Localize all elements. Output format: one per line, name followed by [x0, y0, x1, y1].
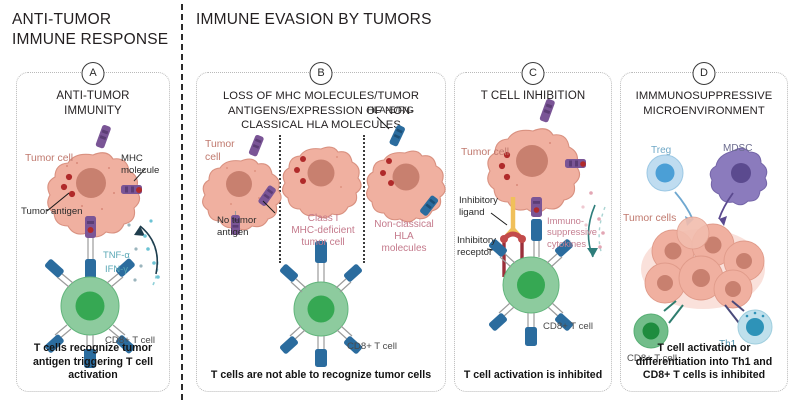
label-tnf-alpha: TNF-α: [103, 249, 130, 260]
label-mhc-deficient-tumor-cell: Class I MHC-deficient tumor cell: [285, 213, 361, 250]
label-non-classical-hla: Non-classical HLA molecules: [367, 219, 441, 256]
label-inhibitory-ligand: Inhibitory ligand: [459, 195, 498, 218]
label-tumor-antigen: Tumor antigen: [21, 206, 83, 218]
vertical-dashed-divider-icon: [181, 4, 183, 400]
header-anti-tumor-immune-response: ANTI-TUMOR IMMUNE RESPONSE: [12, 10, 172, 51]
label-cd8-t-cell-b: CD8+ T cell: [347, 341, 397, 353]
non-classical-hla-tumor-cell-icon: [367, 151, 445, 222]
label-hla-efg: HLA-E/F/G: [367, 105, 414, 117]
mhc-molecule-icon-b1: [248, 134, 264, 157]
mhc-molecule-icon-c-top: [539, 98, 555, 123]
label-ifn-gamma: IFN-γ: [105, 263, 128, 274]
hla-efg-molecule-icon: [389, 124, 406, 147]
panel-c: C T CELL INHIBITION: [454, 72, 612, 392]
figure-root: ANTI-TUMOR IMMUNE RESPONSE IMMUNE EVASIO…: [0, 0, 800, 403]
label-treg: Treg: [651, 145, 671, 157]
mhc-molecule-icon: [95, 124, 111, 149]
tumor-cell-mass-icon: [641, 217, 765, 309]
th1-cell-icon: [738, 310, 772, 344]
immune-synapse-icon-c: [531, 197, 542, 257]
panel-d-caption: T cell activation or differentiation int…: [626, 342, 782, 383]
mhc-deficient-tumor-cell-icon: [283, 147, 361, 218]
label-tumor-cell-b: Tumor cell: [205, 139, 235, 164]
treg-cell-icon: [647, 155, 683, 191]
mdsc-cell-icon: [710, 148, 767, 205]
panel-c-caption: T cell activation is inhibited: [460, 369, 606, 383]
mhc-molecule-icon-c-right: [565, 159, 586, 168]
panel-a-caption: T cells recognize tumor antigen triggeri…: [22, 342, 164, 383]
panel-a: A ANTI-TUMOR IMMUNITY: [16, 72, 170, 392]
label-immunosuppressive-cytokines: Immuno- suppressive cytokines: [547, 215, 605, 249]
immune-synapse-icon: [85, 216, 96, 279]
label-cd8-t-cell-c: CD8+ T cell: [543, 321, 593, 333]
label-inhibitory-receptor: Inhibitory receptor: [457, 235, 496, 258]
panel-d: D IMMMUNOSUPPRESSIVE MICROENVIRONMENT: [620, 72, 788, 392]
header-immune-evasion-by-tumors: IMMUNE EVASION BY TUMORS: [196, 10, 756, 30]
panel-b-caption: T cells are not able to recognize tumor …: [202, 369, 440, 383]
label-mdsc: MDSC: [723, 143, 752, 155]
label-tumor-cell-c: Tumor cell: [461, 147, 509, 160]
cytokine-arrow-icon: [127, 219, 159, 285]
panel-b: B LOSS OF MHC MOLECULES/TUMOR ANTIGENS/E…: [196, 72, 446, 392]
label-tumor-cells-d: Tumor cells: [623, 213, 676, 226]
mhc-molecule-icon-right: [121, 185, 142, 194]
label-mhc-molecule: MHC molecule: [121, 153, 159, 176]
label-tumor-cell-a: Tumor cell: [25, 153, 73, 166]
label-no-tumor-antigen: No tumor antigen: [217, 215, 256, 238]
